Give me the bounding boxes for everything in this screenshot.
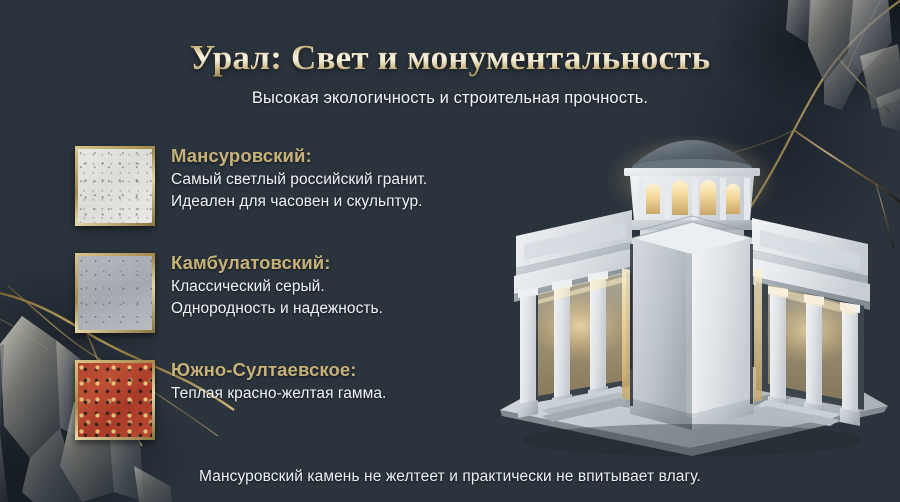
chapel-illustration bbox=[480, 118, 900, 468]
granite-swatch-yuzhno-sultaevskoe[interactable] bbox=[75, 360, 155, 440]
granite-texture bbox=[78, 363, 152, 437]
list-item[interactable]: Мансуровский: Самый светлый российский г… bbox=[75, 146, 495, 253]
page-title: Урал: Свет и монументальность bbox=[0, 40, 900, 77]
stone-list: Мансуровский: Самый светлый российский г… bbox=[75, 146, 495, 467]
granite-texture bbox=[78, 256, 152, 330]
stone-text-block: Южно-Султаевское: Теплая красно-желтая г… bbox=[171, 358, 501, 405]
stone-name: Камбулатовский: bbox=[171, 251, 501, 276]
stone-text-block: Мансуровский: Самый светлый российский г… bbox=[171, 144, 501, 213]
granite-texture bbox=[78, 149, 152, 223]
granite-swatch-mansurovsky[interactable] bbox=[75, 146, 155, 226]
stone-desc-line-2: Идеален для часовен и скульптур. bbox=[171, 191, 501, 213]
list-item[interactable]: Камбулатовский: Классический серый. Одно… bbox=[75, 253, 495, 360]
stone-desc-line-1: Самый светлый российский гранит. bbox=[171, 169, 501, 191]
stone-desc-line-1: Теплая красно-желтая гамма. bbox=[171, 383, 501, 405]
granite-swatch-kambulatovsky[interactable] bbox=[75, 253, 155, 333]
stone-name: Мансуровский: bbox=[171, 144, 501, 169]
stone-desc-line-2: Однородность и надежность. bbox=[171, 298, 501, 320]
footer-caption: Мансуровский камень не желтеет и практич… bbox=[0, 468, 900, 486]
stone-name: Южно-Султаевское: bbox=[171, 358, 501, 383]
stone-text-block: Камбулатовский: Классический серый. Одно… bbox=[171, 251, 501, 320]
page-subtitle: Высокая экологичность и строительная про… bbox=[0, 89, 900, 108]
list-item[interactable]: Южно-Султаевское: Теплая красно-желтая г… bbox=[75, 360, 495, 467]
stone-desc-line-1: Классический серый. bbox=[171, 276, 501, 298]
slide-canvas: Урал: Свет и монументальность Высокая эк… bbox=[0, 0, 900, 502]
